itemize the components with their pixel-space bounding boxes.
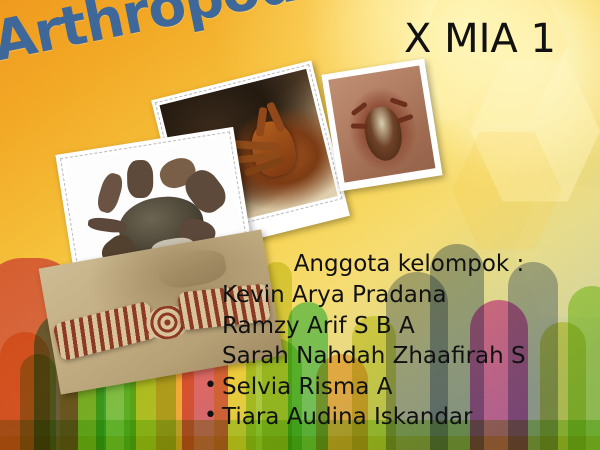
member-name: Sarah Nahdah Zhaafirah S (222, 343, 526, 369)
list-item: Sarah Nahdah Zhaafirah S (196, 341, 600, 372)
member-name: Ramzy Arif S B A (222, 313, 415, 339)
list-item: Tiara Audina Iskandar (196, 402, 600, 433)
list-item: Selvia Risma A (196, 372, 600, 403)
member-name: Tiara Audina Iskandar (222, 404, 472, 430)
tick-photo-image (328, 65, 435, 182)
member-name: Kevin Arya Pradana (222, 282, 447, 308)
members-list: Kevin Arya Pradana Ramzy Arif S B A Sara… (196, 280, 600, 433)
presentation-slide: Arthropoda X MIA 1 Anggota kelompok : Ke… (0, 0, 600, 450)
photo-tick[interactable] (321, 59, 442, 192)
members-block: Anggota kelompok : Kevin Arya Pradana Ra… (196, 250, 600, 433)
list-item: Kevin Arya Pradana (196, 280, 600, 311)
member-name: Selvia Risma A (222, 374, 392, 400)
members-heading: Anggota kelompok : (196, 250, 600, 278)
list-item: Ramzy Arif S B A (196, 311, 600, 342)
class-label: X MIA 1 (404, 16, 556, 62)
